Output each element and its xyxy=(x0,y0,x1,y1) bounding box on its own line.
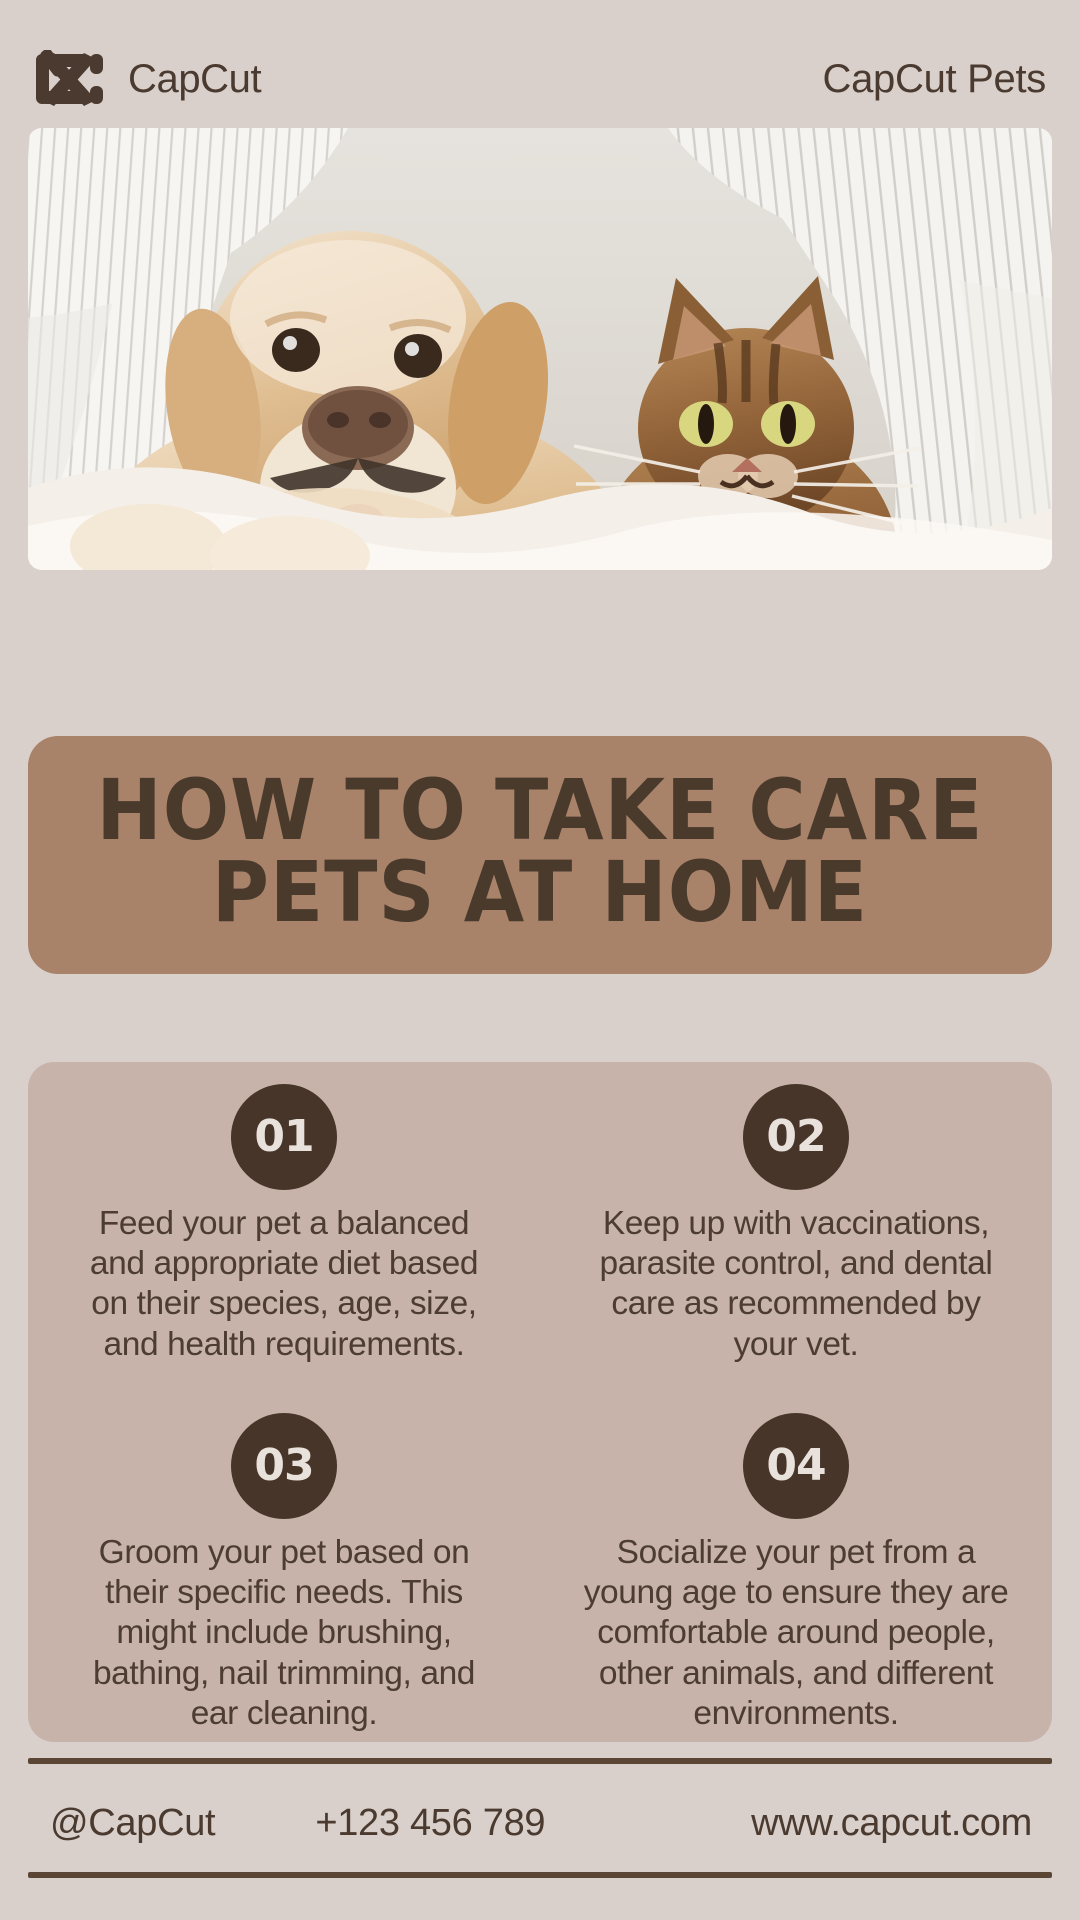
footer-divider-top xyxy=(28,1758,1052,1764)
page-title-line-2: PETS AT HOME xyxy=(212,851,868,933)
footer-social-handle[interactable]: @CapCut xyxy=(50,1804,215,1842)
capcut-bowtie-logo-icon xyxy=(34,50,108,108)
tip-number-badge: 01 xyxy=(231,1084,337,1190)
footer-divider-bottom xyxy=(28,1872,1052,1878)
tip-description: Keep up with vaccinations, parasite cont… xyxy=(581,1204,1011,1365)
tip-description: Groom your pet based on their specific n… xyxy=(69,1533,499,1734)
hero-photo xyxy=(28,128,1052,570)
page-footer: @CapCut +123 456 789 www.capcut.com xyxy=(28,1780,1052,1866)
tip-item-01: 01 Feed your pet a balanced and appropri… xyxy=(28,1062,540,1391)
brand-lockup[interactable]: CapCut xyxy=(34,50,261,108)
tip-item-04: 04 Socialize your pet from a young age t… xyxy=(540,1391,1052,1742)
tip-number: 03 xyxy=(254,1444,313,1488)
tip-item-03: 03 Groom your pet based on their specifi… xyxy=(28,1391,540,1742)
title-banner: HOW TO TAKE CARE PETS AT HOME xyxy=(28,736,1052,974)
tips-grid: 01 Feed your pet a balanced and appropri… xyxy=(28,1062,1052,1742)
tip-number: 01 xyxy=(254,1115,313,1159)
tip-item-02: 02 Keep up with vaccinations, parasite c… xyxy=(540,1062,1052,1391)
tip-number-badge: 04 xyxy=(743,1413,849,1519)
brand-name: CapCut xyxy=(128,59,261,99)
tip-description: Feed your pet a balanced and appropriate… xyxy=(69,1204,499,1365)
tips-card: 01 Feed your pet a balanced and appropri… xyxy=(28,1062,1052,1742)
tip-number-badge: 03 xyxy=(231,1413,337,1519)
tip-number-badge: 02 xyxy=(743,1084,849,1190)
infographic-page: CapCut CapCut Pets xyxy=(0,0,1080,1920)
page-header: CapCut CapCut Pets xyxy=(34,48,1046,110)
header-right-label: CapCut Pets xyxy=(823,59,1046,99)
tip-number: 02 xyxy=(766,1115,825,1159)
tip-number: 04 xyxy=(766,1444,825,1488)
tip-description: Socialize your pet from a young age to e… xyxy=(581,1533,1011,1734)
footer-website[interactable]: www.capcut.com xyxy=(751,1804,1032,1842)
footer-phone[interactable]: +123 456 789 xyxy=(315,1804,545,1842)
hero-photo-illustration xyxy=(28,128,1052,570)
page-title-line-1: HOW TO TAKE CARE xyxy=(96,769,983,851)
